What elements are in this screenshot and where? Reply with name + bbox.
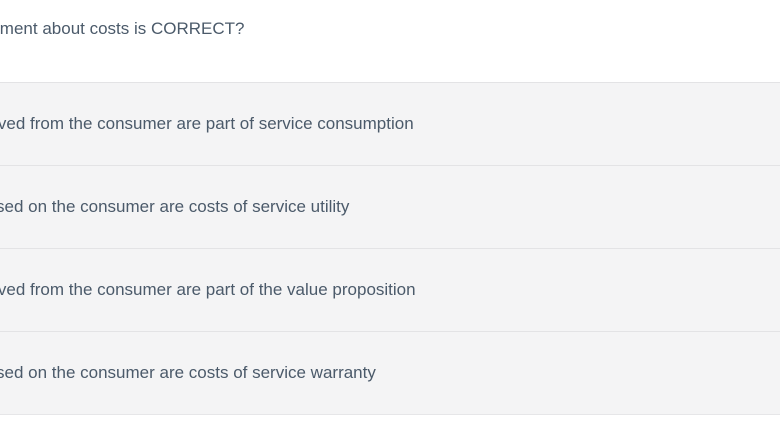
quiz-card: Which statement about costs is CORRECT? … [0,0,780,438]
answer-options-list: Costs removed from the consumer are part… [0,82,780,415]
question-header: Which statement about costs is CORRECT? [0,0,780,82]
answer-option-4[interactable]: Costs imposed on the consumer are costs … [0,332,780,415]
answer-option-3[interactable]: Costs removed from the consumer are part… [0,249,780,332]
answer-option-label: Costs removed from the consumer are part… [0,278,416,302]
answer-option-label: Costs imposed on the consumer are costs … [0,195,349,219]
answer-option-label: Costs removed from the consumer are part… [0,112,414,136]
quiz-viewport: Which statement about costs is CORRECT? … [0,0,780,440]
answer-option-1[interactable]: Costs removed from the consumer are part… [0,83,780,166]
answer-option-label: Costs imposed on the consumer are costs … [0,361,376,385]
list-footer [0,415,780,438]
answer-option-2[interactable]: Costs imposed on the consumer are costs … [0,166,780,249]
question-text: Which statement about costs is CORRECT? [0,17,245,41]
